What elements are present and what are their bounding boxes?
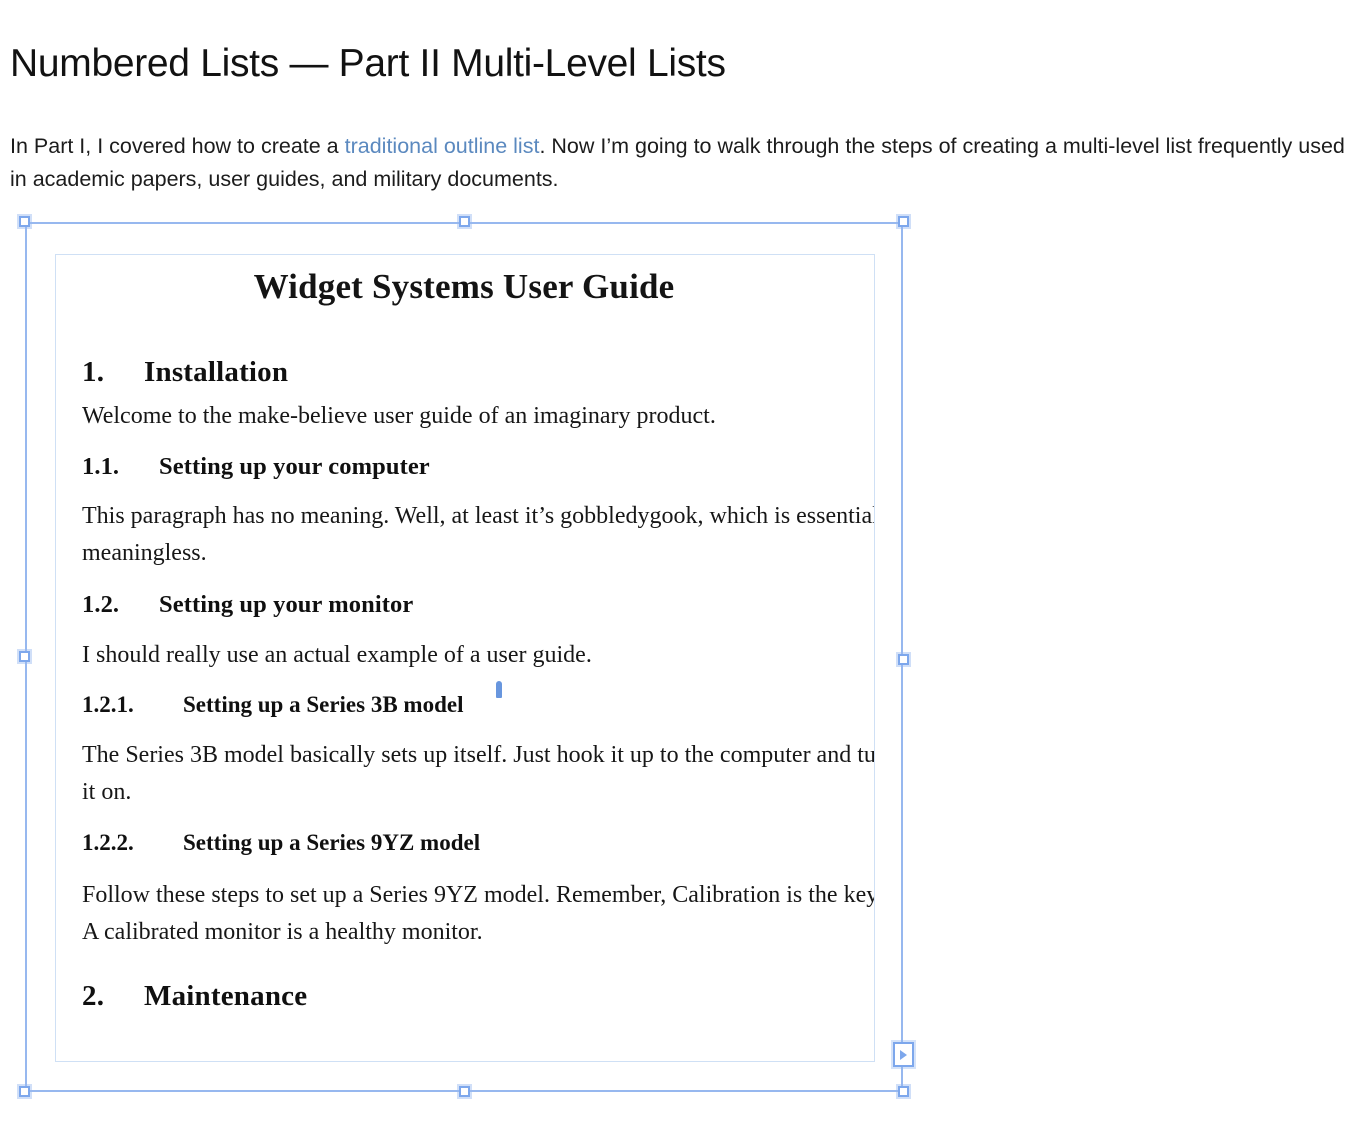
heading-level-1: 2. Maintenance <box>82 979 307 1013</box>
heading-text: Setting up a Series 9YZ model <box>183 828 480 857</box>
resize-handle-top-left[interactable] <box>19 216 30 227</box>
heading-number: 1.2. <box>82 590 159 620</box>
traditional-outline-list-link[interactable]: traditional outline list <box>345 134 540 158</box>
heading-number: 1.1. <box>82 452 159 482</box>
heading-text: Setting up your monitor <box>159 590 413 620</box>
resize-handle-bottom-left[interactable] <box>19 1086 30 1097</box>
text-overflow-outport-icon[interactable] <box>893 1042 914 1067</box>
heading-number: 2. <box>82 979 144 1013</box>
selected-object[interactable]: Widget Systems User Guide 1. Installatio… <box>25 222 903 1092</box>
heading-level-2: 1.2. Setting up your monitor <box>82 590 413 620</box>
body-paragraph: I should really use an actual example of… <box>82 637 875 674</box>
body-paragraph: This paragraph has no meaning. Well, at … <box>82 498 875 572</box>
triangle-icon <box>900 1050 907 1060</box>
heading-text: Setting up your computer <box>159 452 430 482</box>
body-paragraph: The Series 3B model basically sets up it… <box>82 737 875 811</box>
text-cursor-caret <box>496 681 502 698</box>
heading-number: 1. <box>82 355 144 389</box>
heading-text: Installation <box>144 355 288 389</box>
resize-handle-bottom-right[interactable] <box>898 1086 909 1097</box>
body-paragraph: Follow these steps to set up a Series 9Y… <box>82 877 875 951</box>
heading-text: Maintenance <box>144 979 307 1013</box>
intro-text-before-link: In Part I, I covered how to create a <box>10 134 345 158</box>
document-title: Widget Systems User Guide <box>82 265 872 309</box>
heading-level-2: 1.1. Setting up your computer <box>82 452 430 482</box>
text-frame-content: Widget Systems User Guide 1. Installatio… <box>82 255 872 1061</box>
page-title: Numbered Lists — Part II Multi-Level Lis… <box>10 40 1350 88</box>
heading-level-1: 1. Installation <box>82 355 288 389</box>
intro-paragraph: In Part I, I covered how to create a tra… <box>10 130 1354 196</box>
heading-level-3: 1.2.2. Setting up a Series 9YZ model <box>82 828 480 857</box>
heading-number: 1.2.2. <box>82 828 183 857</box>
resize-handle-top-middle[interactable] <box>459 216 470 227</box>
resize-handle-middle-left[interactable] <box>19 651 30 662</box>
heading-level-3: 1.2.1. Setting up a Series 3B model <box>82 690 463 719</box>
heading-number: 1.2.1. <box>82 690 183 719</box>
heading-text: Setting up a Series 3B model <box>183 690 463 719</box>
body-paragraph: Welcome to the make-believe user guide o… <box>82 398 875 435</box>
resize-handle-top-right[interactable] <box>898 216 909 227</box>
text-frame[interactable]: Widget Systems User Guide 1. Installatio… <box>55 254 875 1062</box>
resize-handle-bottom-middle[interactable] <box>459 1086 470 1097</box>
resize-handle-middle-right[interactable] <box>898 654 909 665</box>
